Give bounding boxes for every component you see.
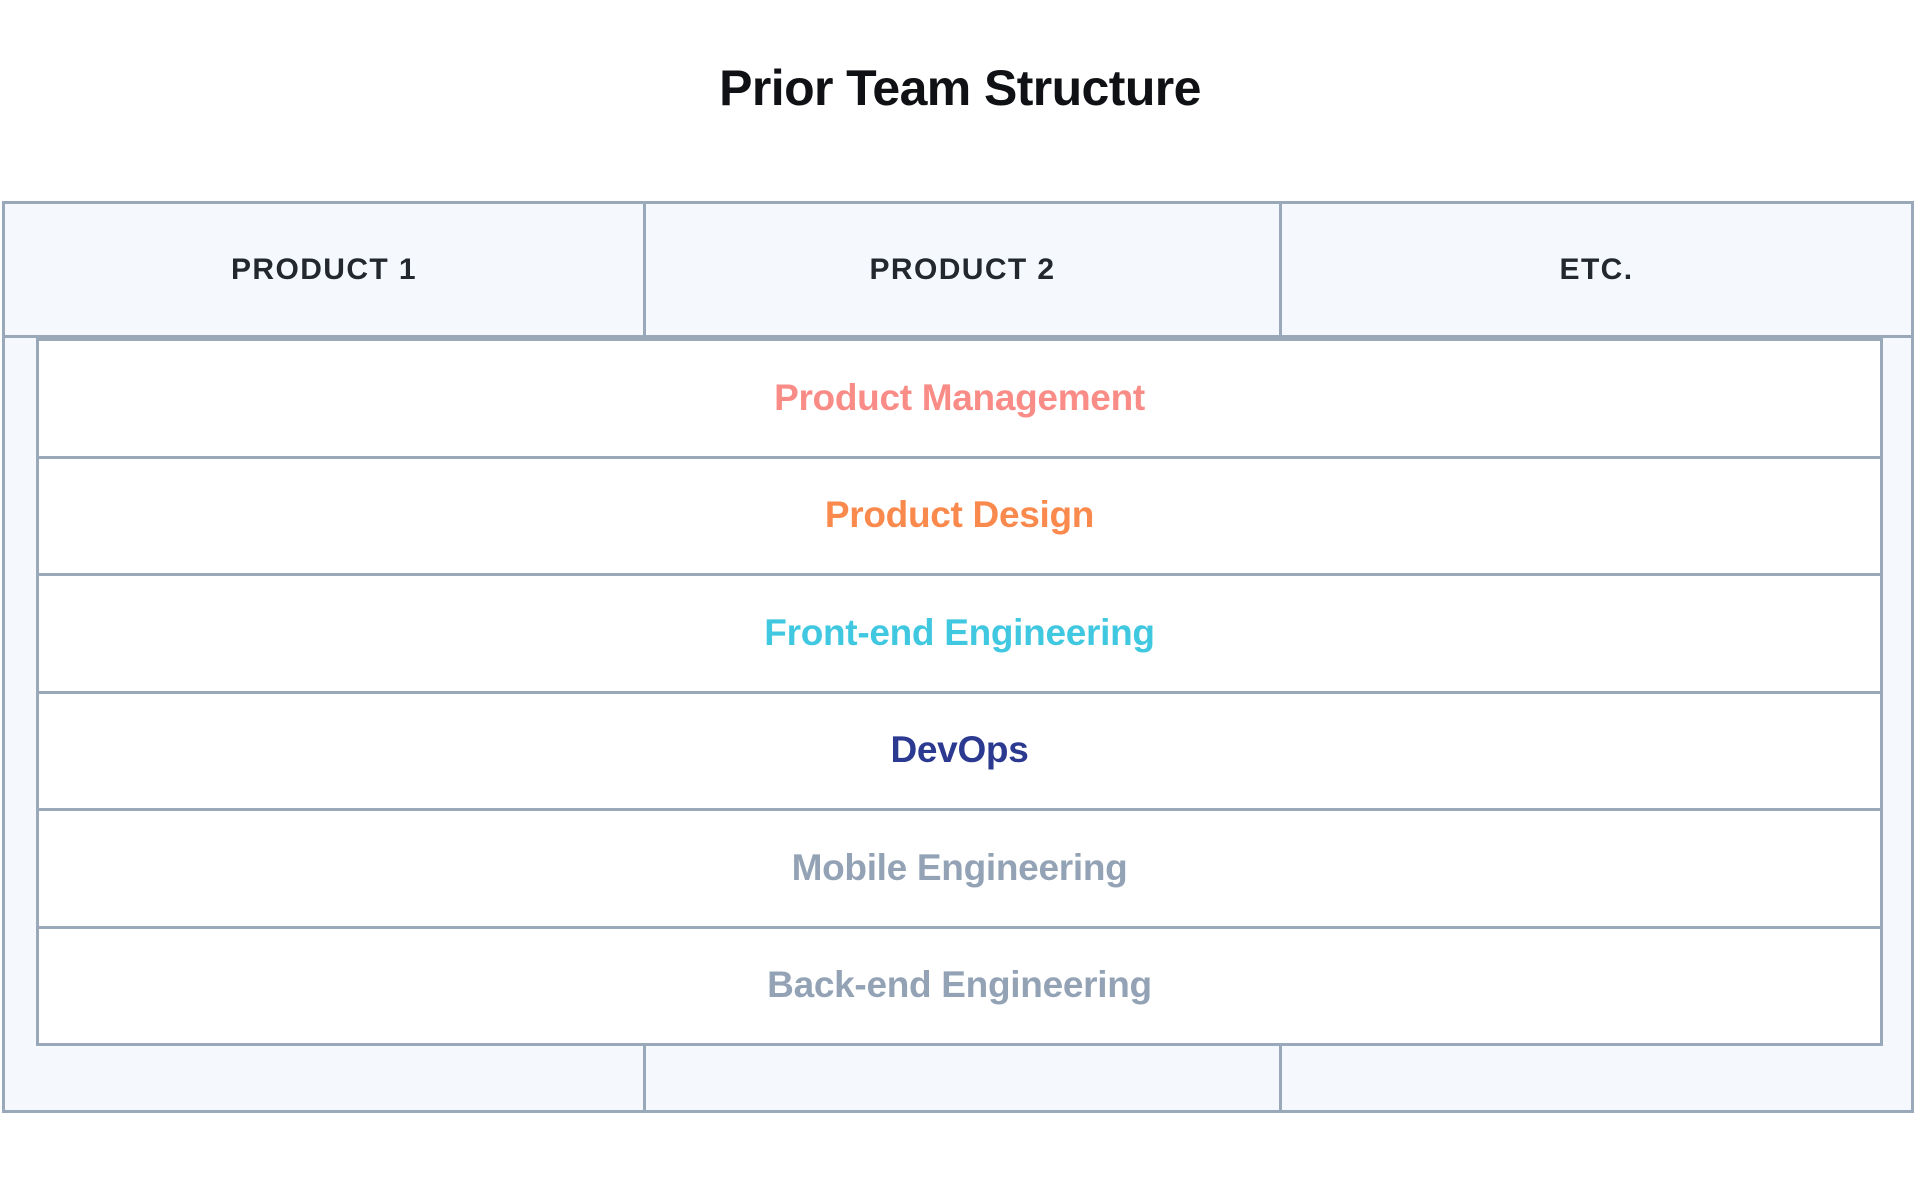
discipline-label-back-end-engineering: Back-end Engineering	[767, 965, 1152, 1006]
discipline-label-front-end-engineering: Front-end Engineering	[764, 613, 1154, 654]
column-header-label: PRODUCT 2	[870, 253, 1056, 287]
column-header-label: ETC.	[1560, 253, 1634, 287]
discipline-label-devops: DevOps	[890, 730, 1028, 771]
table-row[interactable]: Product Management	[39, 341, 1880, 459]
discipline-label-product-design: Product Design	[825, 495, 1094, 536]
column-header-product-2[interactable]: PRODUCT 2	[643, 204, 1282, 335]
table-header-row: PRODUCT 1 PRODUCT 2 ETC.	[5, 204, 1911, 338]
discipline-label-mobile-engineering: Mobile Engineering	[792, 848, 1128, 889]
column-header-etc[interactable]: ETC.	[1282, 204, 1911, 335]
diagram-canvas: Prior Team Structure PRODUCT 1 PRODUCT 2…	[0, 0, 1920, 1197]
table-row[interactable]: Back-end Engineering	[39, 929, 1880, 1044]
discipline-label-product-management: Product Management	[774, 378, 1145, 419]
column-header-label: PRODUCT 1	[231, 253, 417, 287]
table-row[interactable]: Product Design	[39, 459, 1880, 577]
table-row[interactable]: DevOps	[39, 694, 1880, 812]
column-header-product-1[interactable]: PRODUCT 1	[5, 204, 643, 335]
discipline-rows-table: Product Management Product Design Front-…	[36, 338, 1883, 1046]
table-row[interactable]: Front-end Engineering	[39, 576, 1880, 694]
page-title: Prior Team Structure	[0, 58, 1920, 118]
table-row[interactable]: Mobile Engineering	[39, 811, 1880, 929]
